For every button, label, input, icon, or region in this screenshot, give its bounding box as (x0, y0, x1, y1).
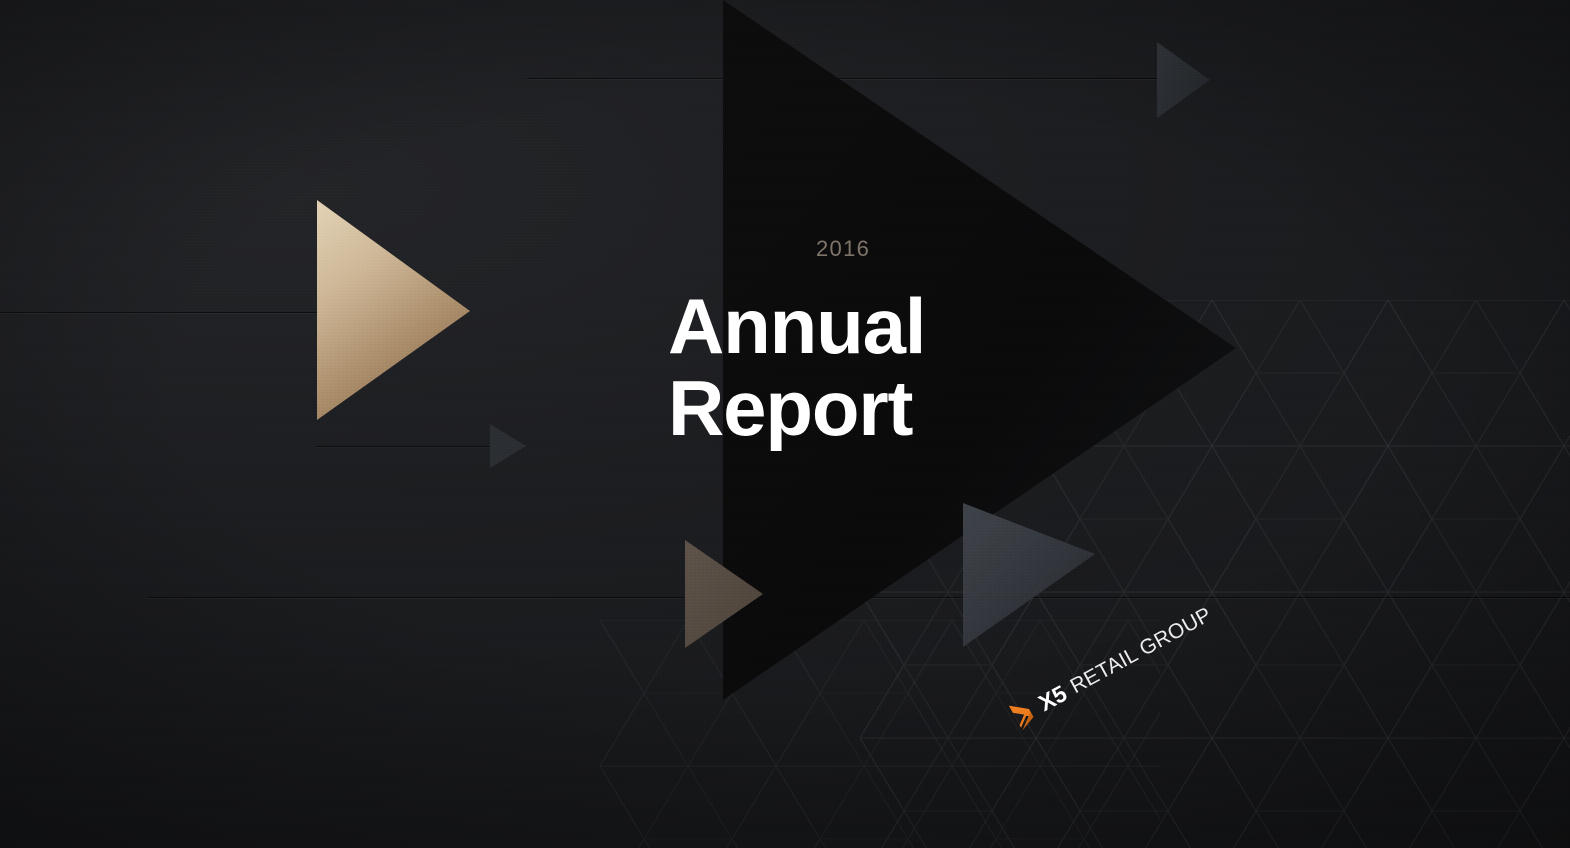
cover-title-block: 2016 Annual Report (668, 238, 1228, 447)
page-title: Annual Report (668, 288, 1228, 447)
report-year: 2016 (816, 238, 1228, 260)
title-line-2: Report (668, 370, 1228, 446)
annual-report-cover: 2016 Annual Report X5 RETAIL GROUP (0, 0, 1570, 848)
title-line-1: Annual (668, 288, 1228, 364)
